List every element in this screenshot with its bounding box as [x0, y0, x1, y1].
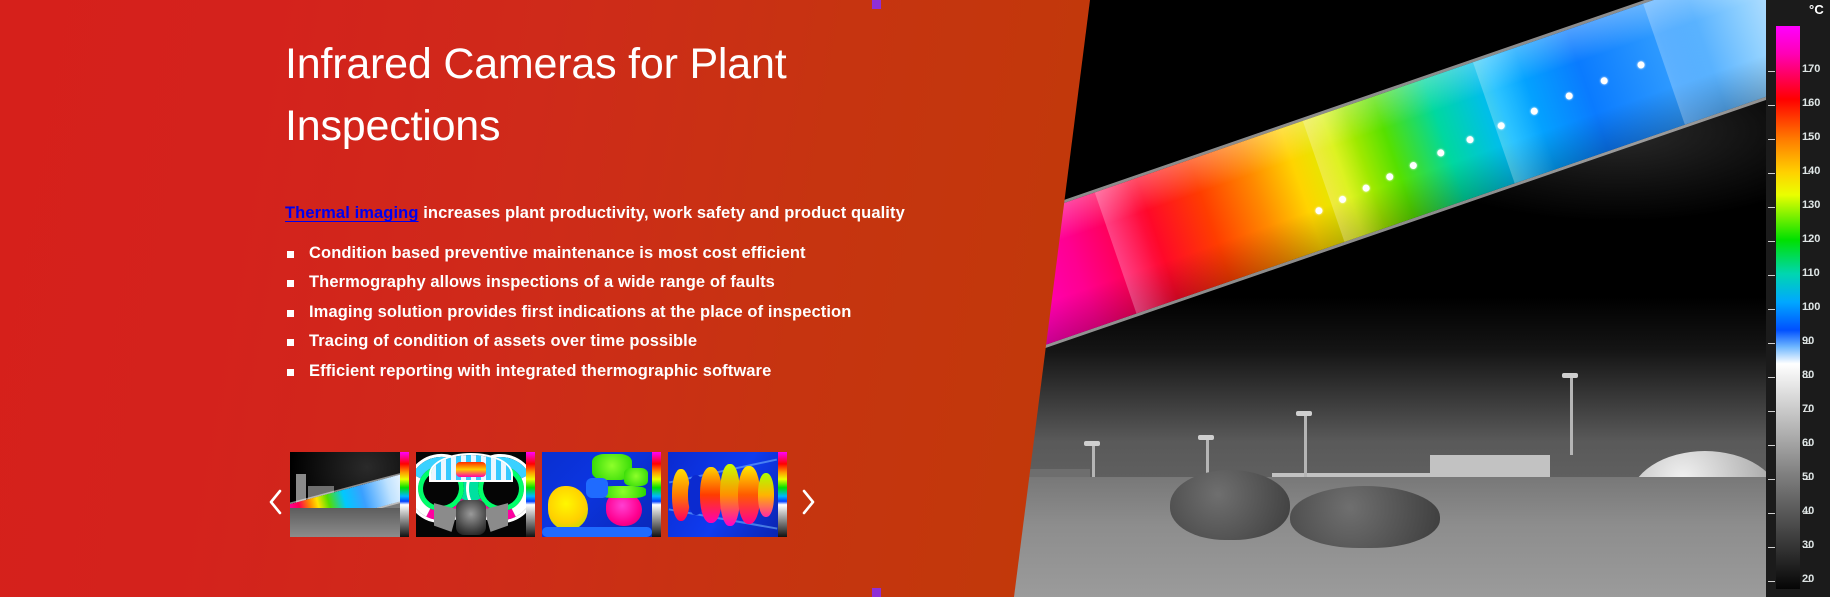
carousel-thumbnail-1[interactable]: [290, 452, 409, 537]
hero-banner: °C 170 160 150 140 130 120 110 100 90 80…: [0, 0, 1830, 597]
thumbnail-strip: [290, 452, 787, 537]
tick-label: 140: [1802, 165, 1820, 177]
vegetation: [1170, 470, 1290, 540]
thumbnail-scale-icon: [400, 452, 409, 537]
tick-label: 170: [1802, 63, 1820, 75]
tick-label: 20: [1802, 573, 1814, 585]
tick-label: 60: [1802, 437, 1814, 449]
temperature-scale: °C 170 160 150 140 130 120 110 100 90 80…: [1766, 0, 1830, 597]
lede-paragraph: Thermal imaging increases plant producti…: [285, 204, 905, 223]
list-item: Efficient reporting with integrated ther…: [285, 361, 851, 383]
list-item: Condition based preventive maintenance i…: [285, 243, 851, 265]
list-item: Tracing of condition of assets over time…: [285, 331, 851, 353]
tick-label: 100: [1802, 301, 1820, 313]
chevron-right-icon: [800, 489, 816, 515]
tick-label: 120: [1802, 233, 1820, 245]
page-title: Infrared Cameras for Plant Inspections: [285, 34, 905, 158]
carousel-thumbnail-3[interactable]: [542, 452, 661, 537]
hero-content: Infrared Cameras for Plant Inspections T…: [0, 0, 1120, 597]
vegetation: [1290, 486, 1440, 548]
carousel-thumbnail-2[interactable]: [416, 452, 535, 537]
temperature-unit-label: °C: [1809, 2, 1824, 17]
chevron-left-icon: [268, 489, 284, 515]
list-item: Imaging solution provides first indicati…: [285, 302, 851, 324]
carousel-thumbnail-4[interactable]: [668, 452, 787, 537]
tick-label: 40: [1802, 505, 1814, 517]
temperature-tick-list: 170 160 150 140 130 120 110 100 90 80 70…: [1766, 26, 1830, 589]
benefit-list: Condition based preventive maintenance i…: [285, 243, 851, 390]
thermal-imaging-link[interactable]: Thermal imaging: [285, 204, 419, 222]
thumbnail-scale-icon: [652, 452, 661, 537]
tick-label: 150: [1802, 131, 1820, 143]
tick-label: 160: [1802, 97, 1820, 109]
tick-label: 110: [1802, 267, 1820, 279]
carousel-next-button[interactable]: [794, 482, 822, 522]
thumbnail-scale-icon: [778, 452, 787, 537]
tick-label: 90: [1802, 335, 1814, 347]
thumbnail-carousel: [262, 452, 832, 552]
tick-label: 30: [1802, 539, 1814, 551]
tick-label: 50: [1802, 471, 1814, 483]
tick-label: 70: [1802, 403, 1814, 415]
tick-label: 130: [1802, 199, 1820, 211]
lede-rest: increases plant productivity, work safet…: [419, 204, 905, 222]
list-item: Thermography allows inspections of a wid…: [285, 272, 851, 294]
thumbnail-scale-icon: [526, 452, 535, 537]
carousel-prev-button[interactable]: [262, 482, 290, 522]
tick-label: 80: [1802, 369, 1814, 381]
